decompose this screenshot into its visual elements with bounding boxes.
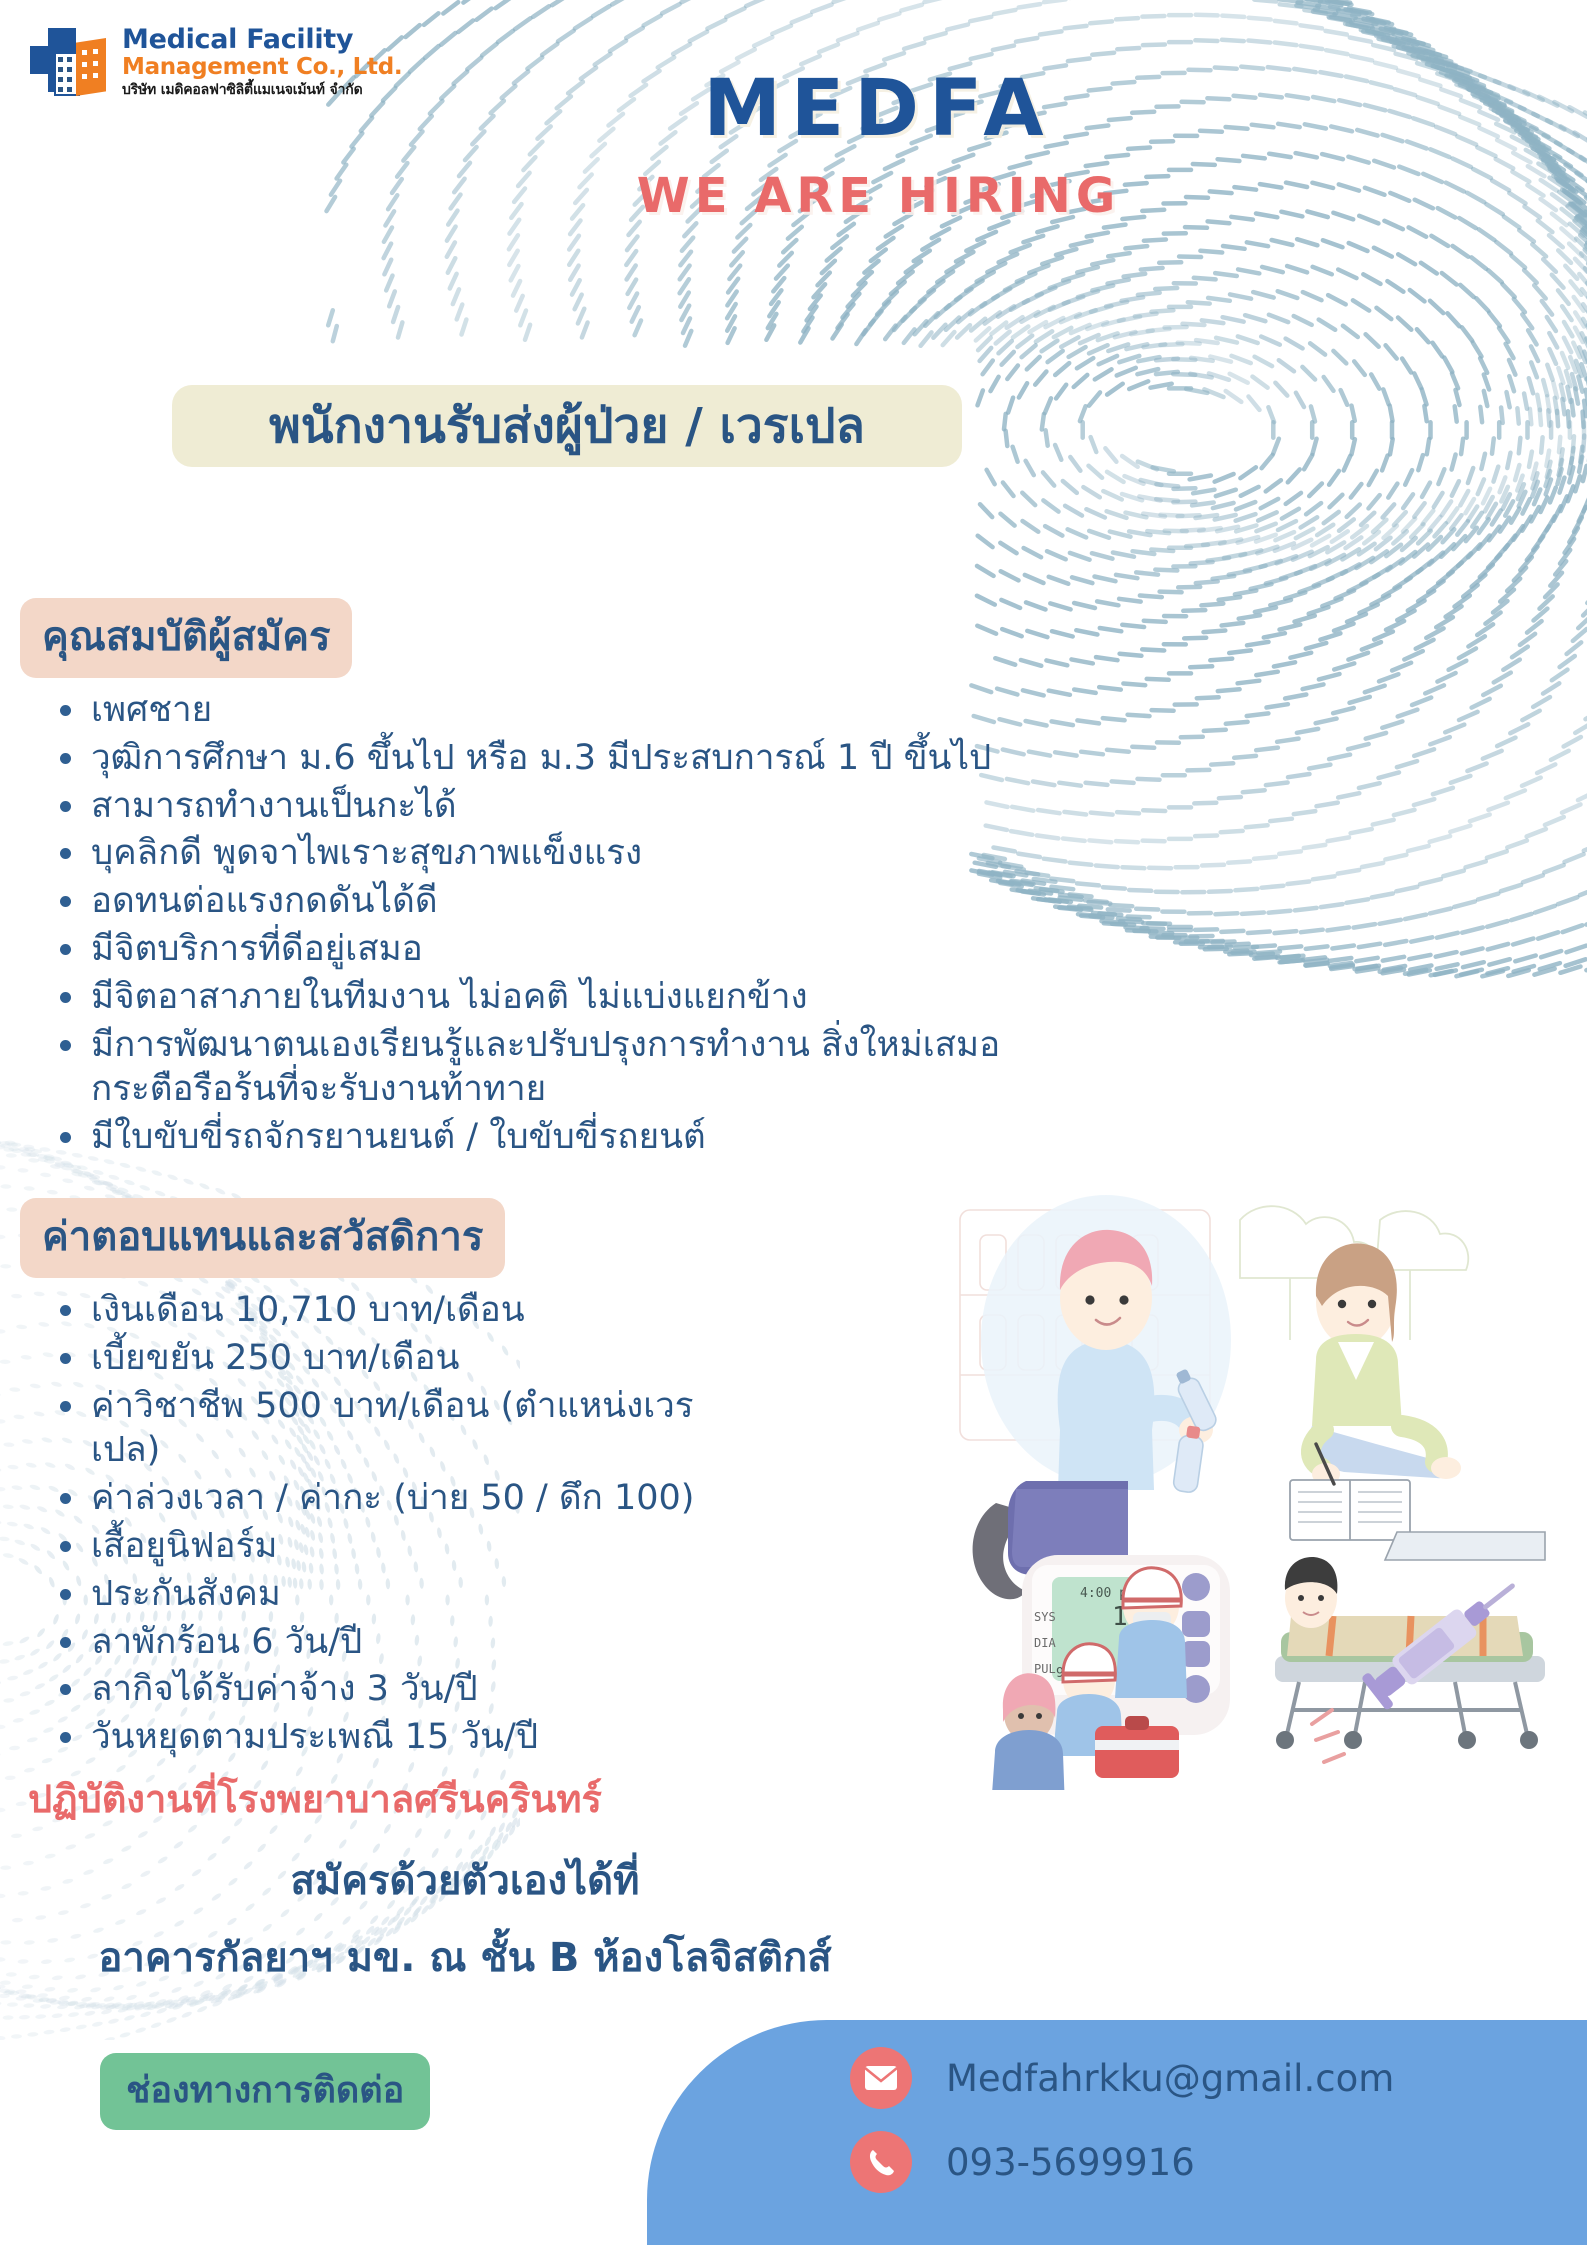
- phone-icon: [850, 2131, 912, 2193]
- list-item: ค่าวิชาชีพ 500 บาท/เดือน (ตำแหน่งเวรเปล): [42, 1384, 762, 1474]
- bullet-dot-icon: [60, 1541, 71, 1552]
- bp-sys-label: SYS: [1034, 1610, 1056, 1624]
- contact-phone[interactable]: 093-5699916: [946, 2141, 1195, 2184]
- list-item: ประกันสังคม: [42, 1572, 762, 1617]
- poster-header: Medical Facility Management Co., Ltd. บร…: [0, 0, 1587, 360]
- list-item-text: ค่าวิชาชีพ 500 บาท/เดือน (ตำแหน่งเวรเปล): [91, 1384, 762, 1474]
- bullet-dot-icon: [60, 801, 71, 812]
- list-item: มีการพัฒนาตนเองเรียนรู้และปรับปรุงการทำง…: [42, 1023, 1122, 1113]
- logo-line-1: Medical Facility: [122, 26, 402, 53]
- list-item: ลาพักร้อน 6 วัน/ปี: [42, 1620, 762, 1665]
- list-item-text: มีใบขับขี่รถจักรยานยนต์ / ใบขับขี่รถยนต์: [91, 1115, 706, 1160]
- bullet-dot-icon: [60, 992, 71, 1003]
- bullet-dot-icon: [60, 944, 71, 955]
- apply-instruction: สมัครด้วยตัวเองได้ที่: [0, 1848, 930, 1912]
- wordmark-medfa: MEDFA: [0, 64, 1587, 154]
- list-item: ลากิจได้รับค่าจ้าง 3 วัน/ปี: [42, 1667, 762, 1712]
- list-item-text: มีจิตอาสาภายในทีมงาน ไม่อคติ ไม่แบ่งแยกข…: [91, 975, 808, 1020]
- bullet-dot-icon: [60, 1040, 71, 1051]
- contact-badge-label: ช่องทางการติดต่อ: [126, 2070, 404, 2111]
- bullet-dot-icon: [60, 1132, 71, 1143]
- benefits-heading-label: ค่าตอบแทนและสวัสดิการ: [42, 1214, 483, 1260]
- list-item-text: เบี้ยขยัน 250 บาท/เดือน: [91, 1336, 459, 1381]
- list-item-text: ลาพักร้อน 6 วัน/ปี: [91, 1620, 362, 1665]
- bullet-dot-icon: [60, 1493, 71, 1504]
- list-item-text: เสื้อยูนิฟอร์ม: [91, 1524, 277, 1569]
- envelope-icon: [850, 2047, 912, 2109]
- benefits-list: เงินเดือน 10,710 บาท/เดือนเบี้ยขยัน 250 …: [42, 1288, 762, 1763]
- bullet-dot-icon: [60, 1305, 71, 1316]
- benefits-heading: ค่าตอบแทนและสวัสดิการ: [20, 1198, 505, 1278]
- job-title-banner: พนักงานรับส่งผู้ป่วย / เวรเปล: [172, 385, 962, 467]
- list-item-text: ค่าล่วงเวลา / ค่ากะ (บ่าย 50 / ดึก 100): [91, 1476, 694, 1521]
- list-item-text: มีการพัฒนาตนเองเรียนรู้และปรับปรุงการทำง…: [91, 1023, 1000, 1113]
- healthcare-scene-illustration: 4:00 pm SYS DIA PUL 120 80 76 90: [940, 1190, 1580, 1790]
- list-item-text: ประกันสังคม: [91, 1572, 281, 1617]
- workplace-text: ปฏิบัติงานที่โรงพยาบาลศรีนครินทร์: [28, 1768, 602, 1829]
- list-item: บุคลิกดี พูดจาไพเราะสุขภาพแข็งแรง: [42, 831, 1122, 876]
- bullet-dot-icon: [60, 1353, 71, 1364]
- bullet-dot-icon: [60, 1732, 71, 1743]
- list-item-text: สามารถทำงานเป็นกะได้: [91, 784, 457, 829]
- list-item-continuation: กระตือรือร้นที่จะรับงานท้าทาย: [91, 1067, 1000, 1112]
- hiring-tagline: WE ARE HIRING: [0, 168, 1587, 224]
- list-item: เสื้อยูนิฟอร์ม: [42, 1524, 762, 1569]
- contact-badge: ช่องทางการติดต่อ: [100, 2053, 430, 2130]
- bullet-dot-icon: [60, 848, 71, 859]
- list-item: ค่าล่วงเวลา / ค่ากะ (บ่าย 50 / ดึก 100): [42, 1476, 762, 1521]
- list-item: วันหยุดตามประเพณี 15 วัน/ปี: [42, 1715, 762, 1760]
- list-item-text: วันหยุดตามประเพณี 15 วัน/ปี: [91, 1715, 538, 1760]
- list-item: สามารถทำงานเป็นกะได้: [42, 784, 1122, 829]
- bullet-dot-icon: [60, 1401, 71, 1412]
- contact-email-row[interactable]: Medfahrkku@gmail.com: [850, 2047, 1394, 2109]
- bullet-dot-icon: [60, 896, 71, 907]
- bullet-dot-icon: [60, 753, 71, 764]
- bp-dia-label: DIA: [1034, 1636, 1056, 1650]
- list-item-text: มีจิตบริการที่ดีอยู่เสมอ: [91, 927, 423, 972]
- list-item: มีจิตบริการที่ดีอยู่เสมอ: [42, 927, 1122, 972]
- bp-pul-label: PUL: [1034, 1662, 1056, 1676]
- apply-address: อาคารกัลยาฯ มข. ณ ชั้น B ห้องโลจิสติกส์: [0, 1925, 930, 1989]
- list-item: เงินเดือน 10,710 บาท/เดือน: [42, 1288, 762, 1333]
- qualifications-heading: คุณสมบัติผู้สมัคร: [20, 598, 352, 678]
- bullet-dot-icon: [60, 705, 71, 716]
- list-item: มีจิตอาสาภายในทีมงาน ไม่อคติ ไม่แบ่งแยกข…: [42, 975, 1122, 1020]
- list-item-text: เงินเดือน 10,710 บาท/เดือน: [91, 1288, 525, 1333]
- bullet-dot-icon: [60, 1684, 71, 1695]
- list-item-text: วุฒิการศึกษา ม.6 ขึ้นไป หรือ ม.3 มีประสบ…: [91, 736, 991, 781]
- contact-details: Medfahrkku@gmail.com 093-5699916: [850, 2047, 1394, 2215]
- bullet-dot-icon: [60, 1589, 71, 1600]
- list-item-text: ลากิจได้รับค่าจ้าง 3 วัน/ปี: [91, 1667, 478, 1712]
- contact-phone-row[interactable]: 093-5699916: [850, 2131, 1394, 2193]
- list-item-text: เพศชาย: [91, 688, 212, 733]
- list-item: เพศชาย: [42, 688, 1122, 733]
- bullet-dot-icon: [60, 1637, 71, 1648]
- list-item: มีใบขับขี่รถจักรยานยนต์ / ใบขับขี่รถยนต์: [42, 1115, 1122, 1160]
- list-item-text: อดทนต่อแรงกดดันได้ดี: [91, 879, 438, 924]
- qualifications-list: เพศชายวุฒิการศึกษา ม.6 ขึ้นไป หรือ ม.3 ม…: [42, 688, 1122, 1163]
- qualifications-heading-label: คุณสมบัติผู้สมัคร: [42, 614, 330, 660]
- list-item: เบี้ยขยัน 250 บาท/เดือน: [42, 1336, 762, 1381]
- list-item-text: บุคลิกดี พูดจาไพเราะสุขภาพแข็งแรง: [91, 831, 642, 876]
- job-title: พนักงานรับส่งผู้ป่วย / เวรเปล: [269, 388, 865, 464]
- list-item: อดทนต่อแรงกดดันได้ดี: [42, 879, 1122, 924]
- list-item: วุฒิการศึกษา ม.6 ขึ้นไป หรือ ม.3 มีประสบ…: [42, 736, 1122, 781]
- contact-email[interactable]: Medfahrkku@gmail.com: [946, 2057, 1394, 2100]
